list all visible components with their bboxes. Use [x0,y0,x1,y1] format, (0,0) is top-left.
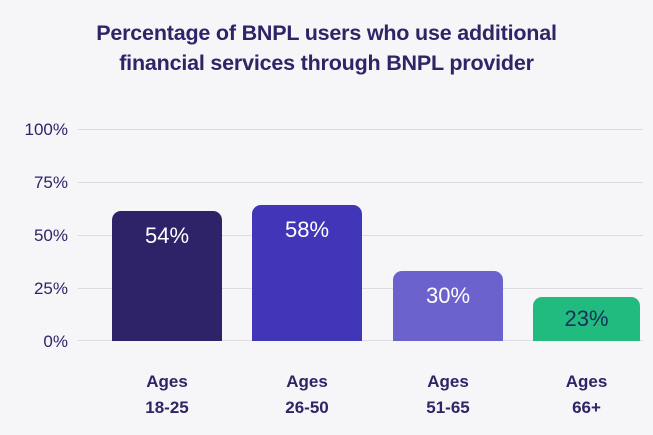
x-tick-ages-26-50-line-1: Ages [252,369,362,395]
x-tick-ages-26-50: Ages 26-50 [252,369,362,421]
y-tick-label-0: 0% [6,333,68,350]
bar-value-ages-26-50: 58% [252,219,362,241]
y-tick-label-75: 75% [6,174,68,191]
y-axis: 100% 75% 50% 25% 0% [0,129,68,341]
bar-value-ages-18-25: 54% [112,225,222,247]
x-axis: Ages 18-25 Ages 26-50 Ages 51-65 Ages 66… [78,341,643,435]
y-tick-label-50: 50% [6,227,68,244]
x-tick-ages-18-25-line-2: 18-25 [112,395,222,421]
bar-chart: Percentage of BNPL users who use additio… [0,0,653,435]
y-tick-label-25: 25% [6,280,68,297]
bar-value-ages-51-65: 30% [393,285,503,307]
x-tick-ages-51-65-line-1: Ages [393,369,503,395]
bar-group-ages-51-65[interactable]: 30% [393,129,503,341]
x-tick-ages-26-50-line-2: 26-50 [252,395,362,421]
x-tick-ages-66-plus-line-2: 66+ [533,395,640,421]
x-tick-ages-66-plus-line-1: Ages [533,369,640,395]
bar-value-ages-66-plus: 23% [533,308,640,330]
x-tick-ages-51-65: Ages 51-65 [393,369,503,421]
x-tick-ages-66-plus: Ages 66+ [533,369,640,421]
chart-title: Percentage of BNPL users who use additio… [0,18,653,78]
chart-title-line-1: Percentage of BNPL users who use additio… [0,18,653,48]
x-tick-ages-18-25: Ages 18-25 [112,369,222,421]
x-tick-ages-51-65-line-2: 51-65 [393,395,503,421]
bar-group-ages-26-50[interactable]: 58% [252,129,362,341]
y-tick-label-100: 100% [6,121,68,138]
plot-area: 54% 58% 30% 23% [78,129,643,341]
x-tick-ages-18-25-line-1: Ages [112,369,222,395]
chart-title-line-2: financial services through BNPL provider [0,48,653,78]
bar-group-ages-18-25[interactable]: 54% [112,129,222,341]
bar-group-ages-66-plus[interactable]: 23% [533,129,640,341]
